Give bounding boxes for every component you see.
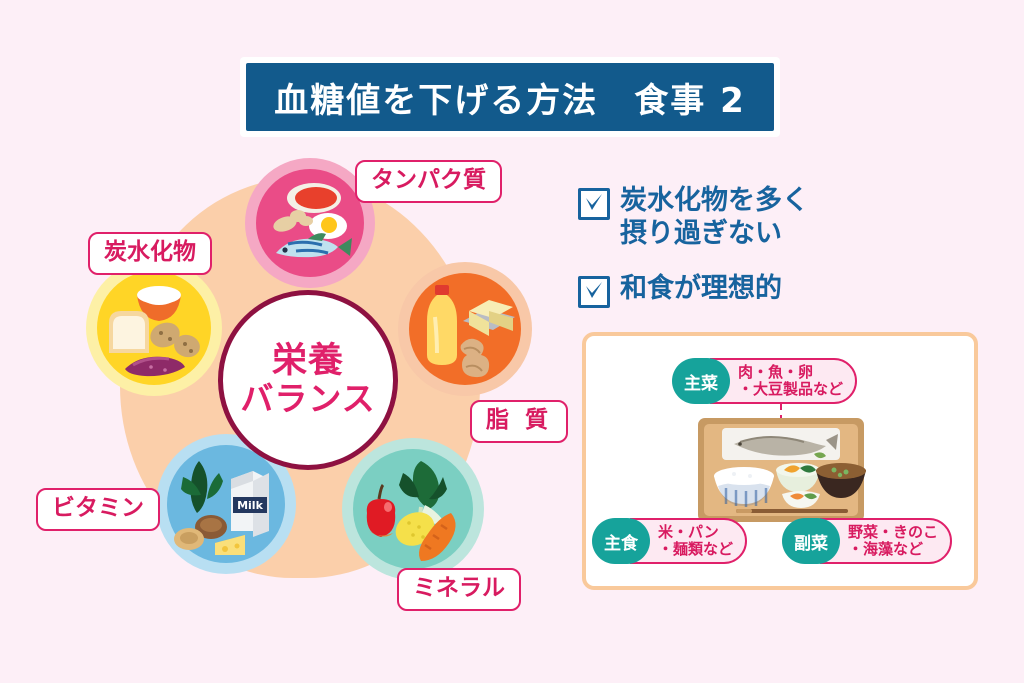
meal-tag-line2: ・大豆製品など xyxy=(738,381,843,398)
center-label-line1: 栄養 xyxy=(272,343,344,381)
center-label-line2: バランス xyxy=(240,381,375,417)
meal-tag-shusai: 主菜 肉・魚・卵 ・大豆製品など xyxy=(672,358,857,404)
checkbox-checked-icon xyxy=(578,276,610,308)
beans-icon xyxy=(271,210,313,234)
meal-tag-name: 主食 xyxy=(592,518,650,564)
minerals-plate xyxy=(353,449,473,569)
checklist-item: 和食が理想的 xyxy=(578,273,998,308)
butter-icon xyxy=(463,300,515,336)
checklist-item-text: 和食が理想的 xyxy=(620,273,782,306)
meal-panel-inner: 主菜 肉・魚・卵 ・大豆製品など 主食 米・パン ・麺類など 副菜 野菜・きのこ… xyxy=(586,336,974,586)
label-carbohydrates: 炭水化物 xyxy=(88,232,212,275)
meal-tag-line1: 米・パン xyxy=(658,524,733,541)
meal-tag-body: 肉・魚・卵 ・大豆製品など xyxy=(710,358,857,404)
meal-tag-name: 副菜 xyxy=(782,518,840,564)
apple-icon xyxy=(367,485,395,537)
checklist-item-line1: 炭水化物を多く xyxy=(620,185,809,218)
title-banner: 血糖値を下げる方法 食事 2 xyxy=(240,57,780,137)
protein-plate xyxy=(256,169,364,277)
japanese-meal-panel: 主菜 肉・魚・卵 ・大豆製品など 主食 米・パン ・麺類など 副菜 野菜・きのこ… xyxy=(582,332,978,590)
nutrition-balance-diagram: タンパク質 xyxy=(60,150,560,630)
center-label: 栄養 バランス xyxy=(218,290,398,470)
infographic-canvas: 血糖値を下げる方法 食事 2 xyxy=(0,0,1024,683)
meal-tag-name: 主菜 xyxy=(672,358,730,404)
label-fats: 脂 質 xyxy=(470,400,568,443)
peanut-icon xyxy=(461,339,490,377)
leafy-greens-icon xyxy=(181,461,223,513)
grilled-fish-icon xyxy=(722,428,840,460)
potato-icon xyxy=(147,319,203,360)
checklist-item-line2: 摂り過ぎない xyxy=(620,218,809,251)
meal-tag-fukusai: 副菜 野菜・きのこ ・海藻など xyxy=(782,518,952,564)
meal-tray-illustration xyxy=(696,414,866,526)
svg-text:Milk: Milk xyxy=(237,499,263,512)
meal-tag-line1: 肉・魚・卵 xyxy=(738,364,843,381)
checklist-item: 炭水化物を多く 摂り過ぎない xyxy=(578,185,998,251)
checklist: 炭水化物を多く 摂り過ぎない 和食が理想的 xyxy=(578,185,998,330)
checklist-item-line1: 和食が理想的 xyxy=(620,273,782,306)
label-minerals: ミネラル xyxy=(397,568,521,611)
meat-icon xyxy=(287,183,341,213)
checklist-item-text: 炭水化物を多く 摂り過ぎない xyxy=(620,185,809,251)
fats-plate xyxy=(409,273,521,385)
vitamins-plate: Milk xyxy=(167,445,285,563)
bread-icon xyxy=(109,311,149,353)
label-protein: タンパク質 xyxy=(355,160,502,203)
meal-tag-line1: 野菜・きのこ xyxy=(848,524,938,541)
meal-tag-line2: ・麺類など xyxy=(658,541,733,558)
chopsticks-icon xyxy=(736,509,848,513)
title-banner-fill: 血糖値を下げる方法 食事 2 xyxy=(246,63,774,131)
label-vitamins: ビタミン xyxy=(36,488,160,531)
checkbox-checked-icon xyxy=(578,188,610,220)
milk-carton-icon: Milk xyxy=(231,471,269,537)
oil-bottle-icon xyxy=(427,285,457,365)
sweet-potato-icon xyxy=(125,357,185,376)
fish-icon xyxy=(276,233,352,257)
meal-tag-shushoku: 主食 米・パン ・麺類など xyxy=(592,518,747,564)
carbs-plate xyxy=(97,271,211,385)
meal-tag-line2: ・海藻など xyxy=(848,541,938,558)
cheese-icon xyxy=(215,535,245,555)
page-title: 血糖値を下げる方法 食事 2 xyxy=(274,73,746,122)
